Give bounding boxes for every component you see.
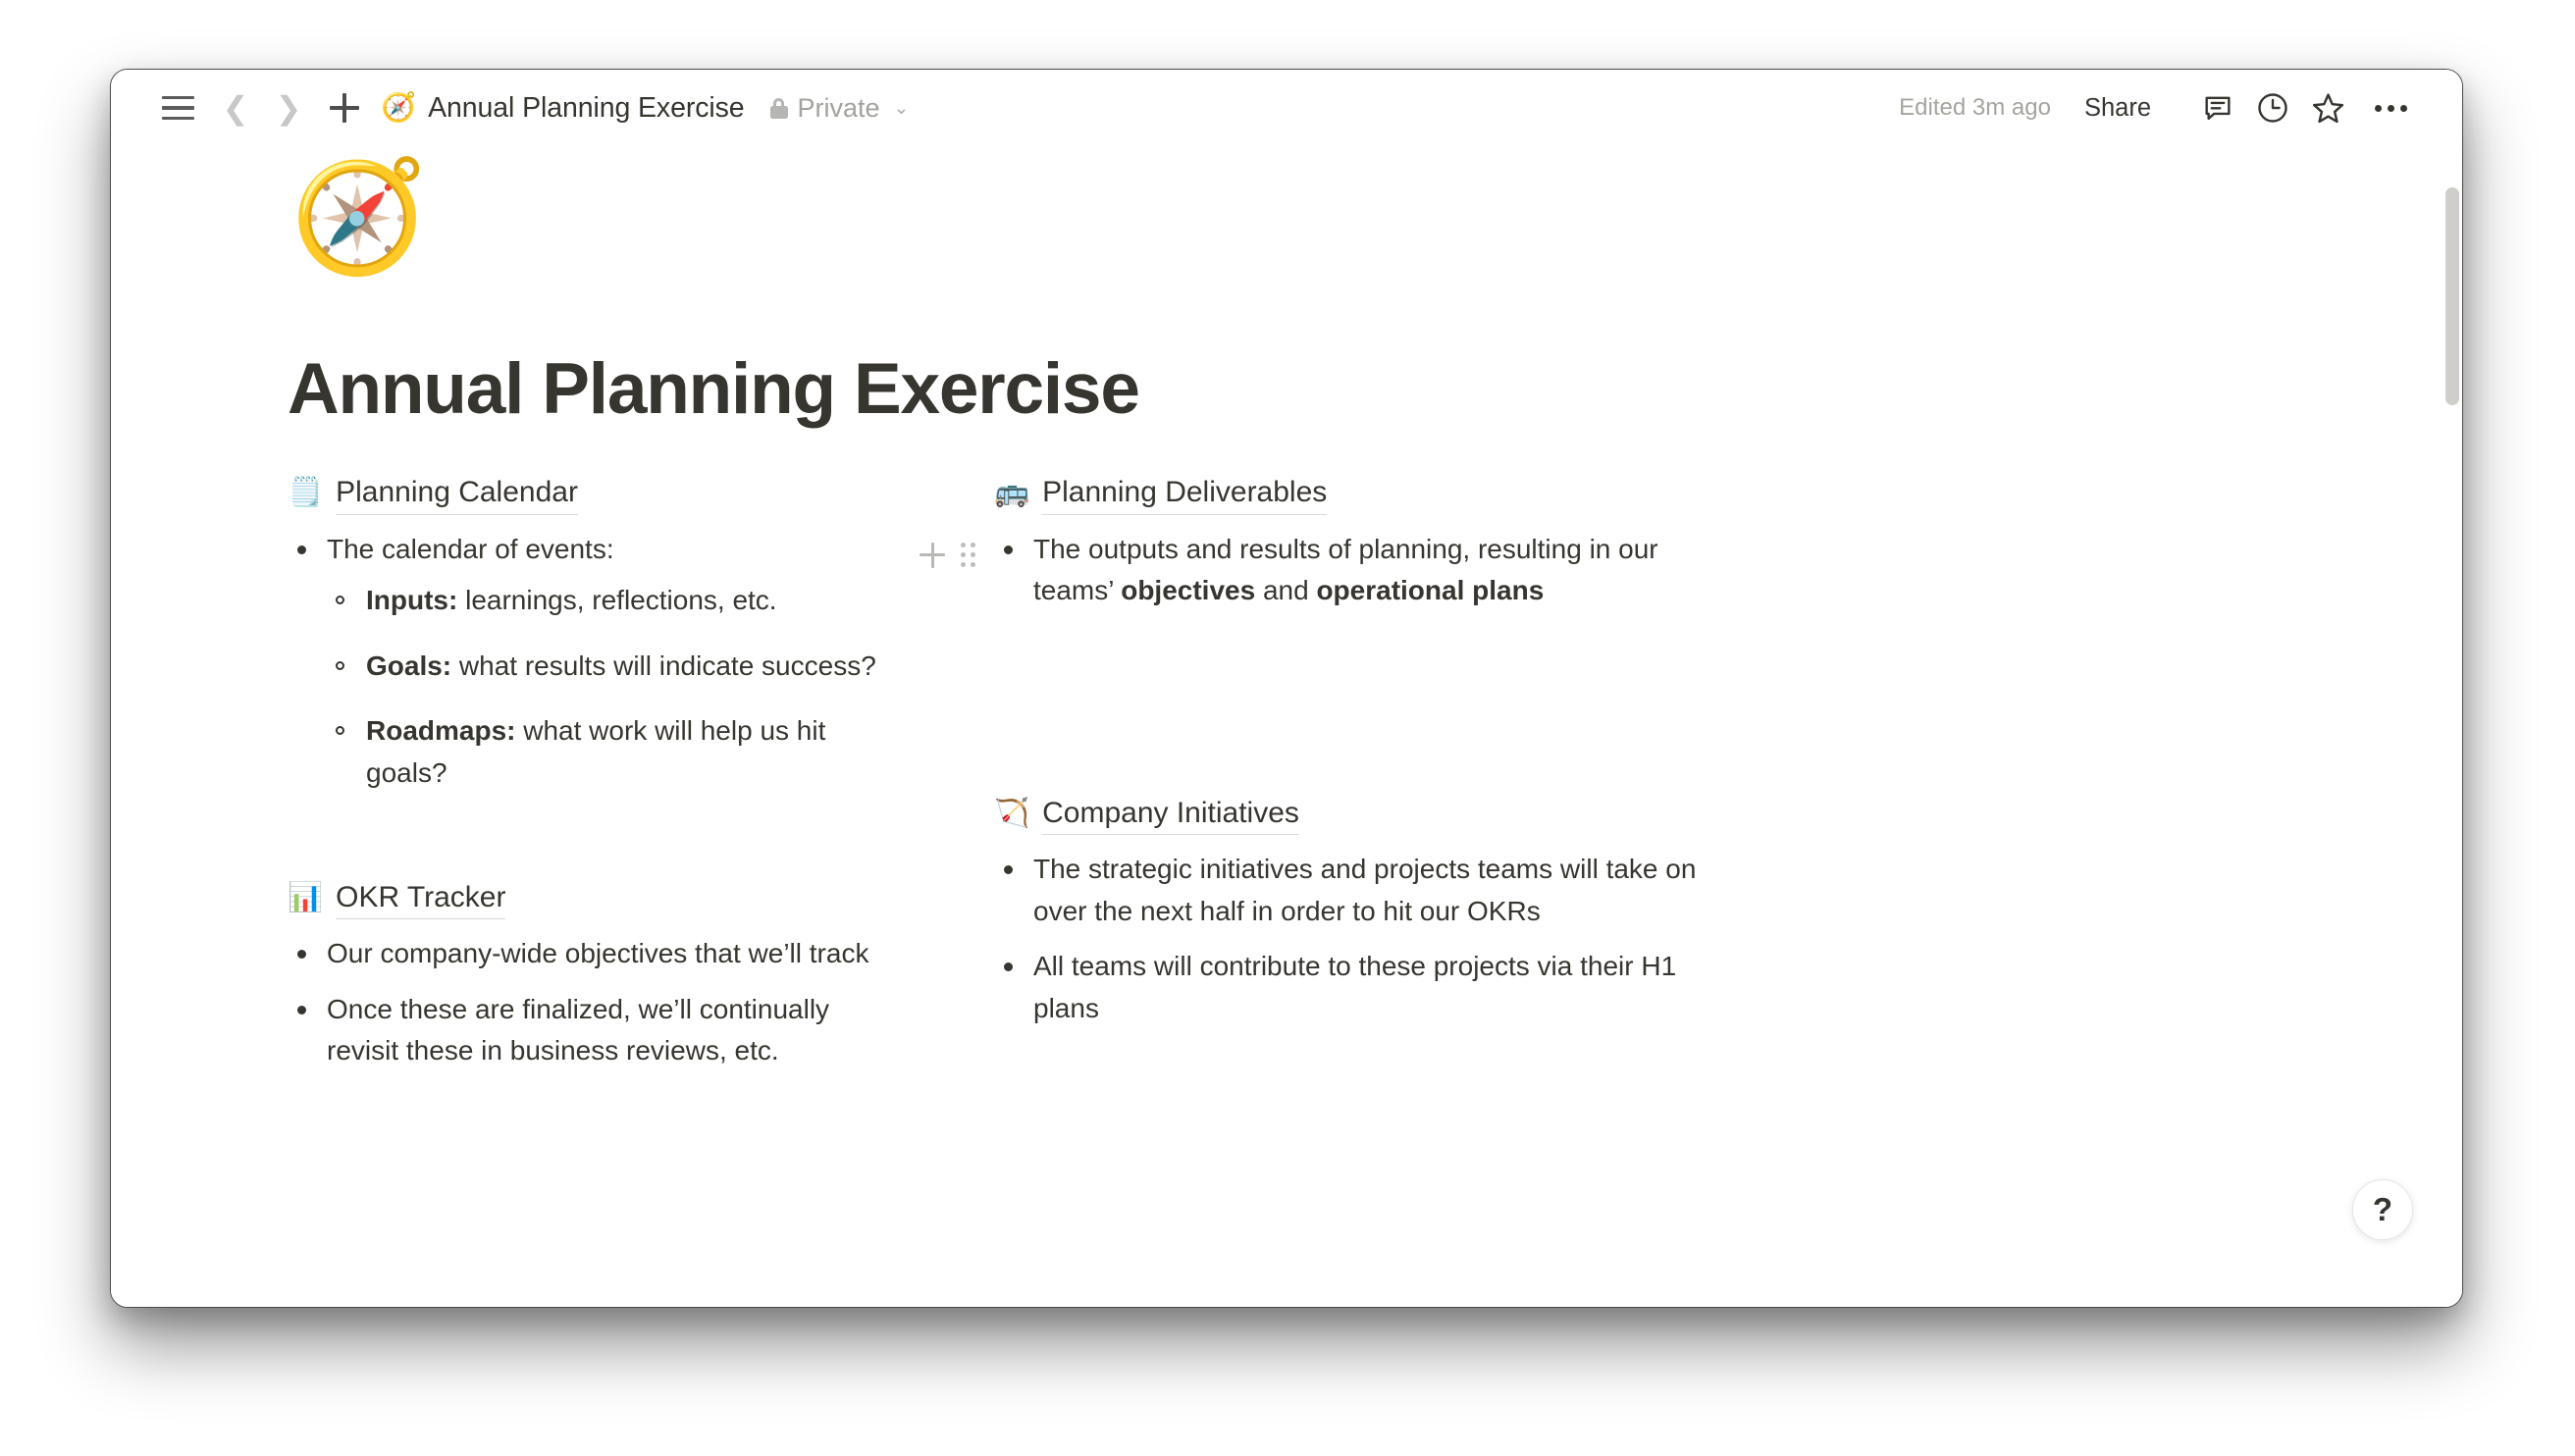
breadcrumb-title[interactable]: Annual Planning Exercise (428, 92, 744, 125)
list-item[interactable]: All teams will contribute to these proje… (994, 946, 1740, 1029)
list-item-label: Goals: (366, 650, 451, 681)
list-item-text: Our company-wide objectives that we’ll t… (327, 938, 868, 968)
bar-chart-icon: 📊 (288, 884, 323, 912)
spiral-notepad-icon: 🗒️ (288, 479, 323, 507)
page-compass-icon[interactable]: 🧭 (290, 162, 2462, 287)
section-header: 🏹 Company Initiatives (994, 795, 1740, 836)
chevron-left-icon[interactable]: ❮ (214, 85, 257, 130)
last-edited-label: Edited 3m ago (1899, 94, 2051, 122)
block-hover-controls (918, 541, 975, 570)
bullet-list: The outputs and results of planning, res… (994, 529, 1740, 612)
page-content: 🧭 Annual Planning Exercise 🗒️ Planning C… (111, 146, 2462, 1072)
nested-bullet-list: Inputs: learnings, reflections, etc. Goa… (327, 580, 896, 794)
list-item[interactable]: The calendar of events: Inputs: learning… (288, 529, 896, 795)
section-title-link[interactable]: Planning Calendar (336, 474, 578, 515)
section-title-link[interactable]: OKR Tracker (336, 879, 505, 920)
hamburger-menu-icon[interactable] (155, 85, 200, 130)
section-planning-calendar: 🗒️ Planning Calendar The calendar of eve… (288, 474, 896, 794)
clock-history-icon[interactable] (2249, 84, 2296, 131)
desktop-backdrop: ❮ ❯ 🧭 Annual Planning Exercise Private ⌄… (0, 0, 2575, 1456)
privacy-label: Private (798, 93, 880, 124)
privacy-selector[interactable]: Private ⌄ (770, 93, 910, 124)
lock-icon (770, 98, 788, 119)
bow-and-arrow-icon: 🏹 (994, 800, 1029, 828)
comment-icon[interactable] (2194, 84, 2241, 131)
list-item[interactable]: Once these are finalized, we’ll continua… (288, 989, 896, 1072)
list-item[interactable]: The outputs and results of planning, res… (994, 529, 1740, 612)
two-column-layout: 🗒️ Planning Calendar The calendar of eve… (111, 474, 2462, 1071)
page-scroll-area[interactable]: 🧭 Annual Planning Exercise 🗒️ Planning C… (111, 146, 2462, 1308)
list-item[interactable]: Roadmaps: what work will help us hit goa… (327, 710, 896, 794)
section-header: 📊 OKR Tracker (288, 879, 896, 920)
page-title[interactable]: Annual Planning Exercise (288, 350, 2462, 429)
list-item-label: Inputs: (366, 585, 457, 615)
list-item-text-bold: objectives (1121, 575, 1255, 605)
section-header: 🗒️ Planning Calendar (288, 474, 896, 515)
help-button[interactable]: ? (2352, 1179, 2413, 1240)
vertical-scrollbar-thumb[interactable] (2445, 187, 2459, 405)
right-column: 🚌 Planning Deliverables (994, 474, 1740, 1071)
bullet-list: The strategic initiatives and projects t… (994, 849, 1740, 1029)
chevron-right-icon[interactable]: ❯ (267, 85, 310, 130)
plus-icon[interactable] (322, 85, 367, 130)
bus-icon: 🚌 (994, 479, 1029, 507)
list-item-text: Once these are finalized, we’ll continua… (327, 994, 829, 1066)
list-item-text: The strategic initiatives and projects t… (1033, 854, 1696, 926)
list-item[interactable]: Goals: what results will indicate succes… (327, 646, 896, 688)
section-okr-tracker: 📊 OKR Tracker Our company-wide objective… (288, 879, 896, 1072)
chevron-down-icon: ⌄ (894, 97, 910, 120)
compass-icon[interactable]: 🧭 (381, 94, 416, 123)
left-column: 🗒️ Planning Calendar The calendar of eve… (288, 474, 896, 1071)
list-item-text-bold: operational plans (1316, 575, 1544, 605)
list-item[interactable]: Inputs: learnings, reflections, etc. (327, 580, 896, 622)
section-title-link[interactable]: Planning Deliverables (1042, 474, 1327, 515)
bullet-list: The calendar of events: Inputs: learning… (288, 529, 896, 795)
section-title-link[interactable]: Company Initiatives (1042, 795, 1299, 836)
top-bar-right-group: Edited 3m ago Share (1899, 84, 2413, 131)
add-block-icon[interactable] (918, 541, 947, 570)
list-item-text: learnings, reflections, etc. (457, 585, 776, 615)
more-options-icon[interactable] (2369, 95, 2413, 122)
app-window: ❮ ❯ 🧭 Annual Planning Exercise Private ⌄… (110, 69, 2463, 1308)
list-item-text: All teams will contribute to these proje… (1033, 951, 1676, 1023)
drag-handle-icon[interactable] (961, 543, 975, 567)
section-header: 🚌 Planning Deliverables (994, 474, 1740, 515)
top-bar: ❮ ❯ 🧭 Annual Planning Exercise Private ⌄… (111, 70, 2462, 146)
list-item[interactable]: The strategic initiatives and projects t… (994, 849, 1740, 932)
bullet-list: Our company-wide objectives that we’ll t… (288, 933, 896, 1072)
list-item[interactable]: Our company-wide objectives that we’ll t… (288, 933, 896, 975)
share-button[interactable]: Share (2084, 94, 2151, 123)
list-item-text: The calendar of events: (327, 534, 614, 564)
star-icon[interactable] (2304, 84, 2351, 131)
section-company-initiatives: 🏹 Company Initiatives The strategic init… (994, 795, 1740, 1030)
list-item-text: what results will indicate success? (451, 650, 876, 681)
vertical-scrollbar-track[interactable] (2443, 146, 2462, 1308)
top-bar-left-group: ❮ ❯ 🧭 Annual Planning Exercise Private ⌄ (155, 85, 1899, 130)
section-planning-deliverables: 🚌 Planning Deliverables (994, 474, 1740, 612)
list-item-label: Roadmaps: (366, 715, 515, 746)
list-item-text-part: and (1255, 575, 1316, 605)
